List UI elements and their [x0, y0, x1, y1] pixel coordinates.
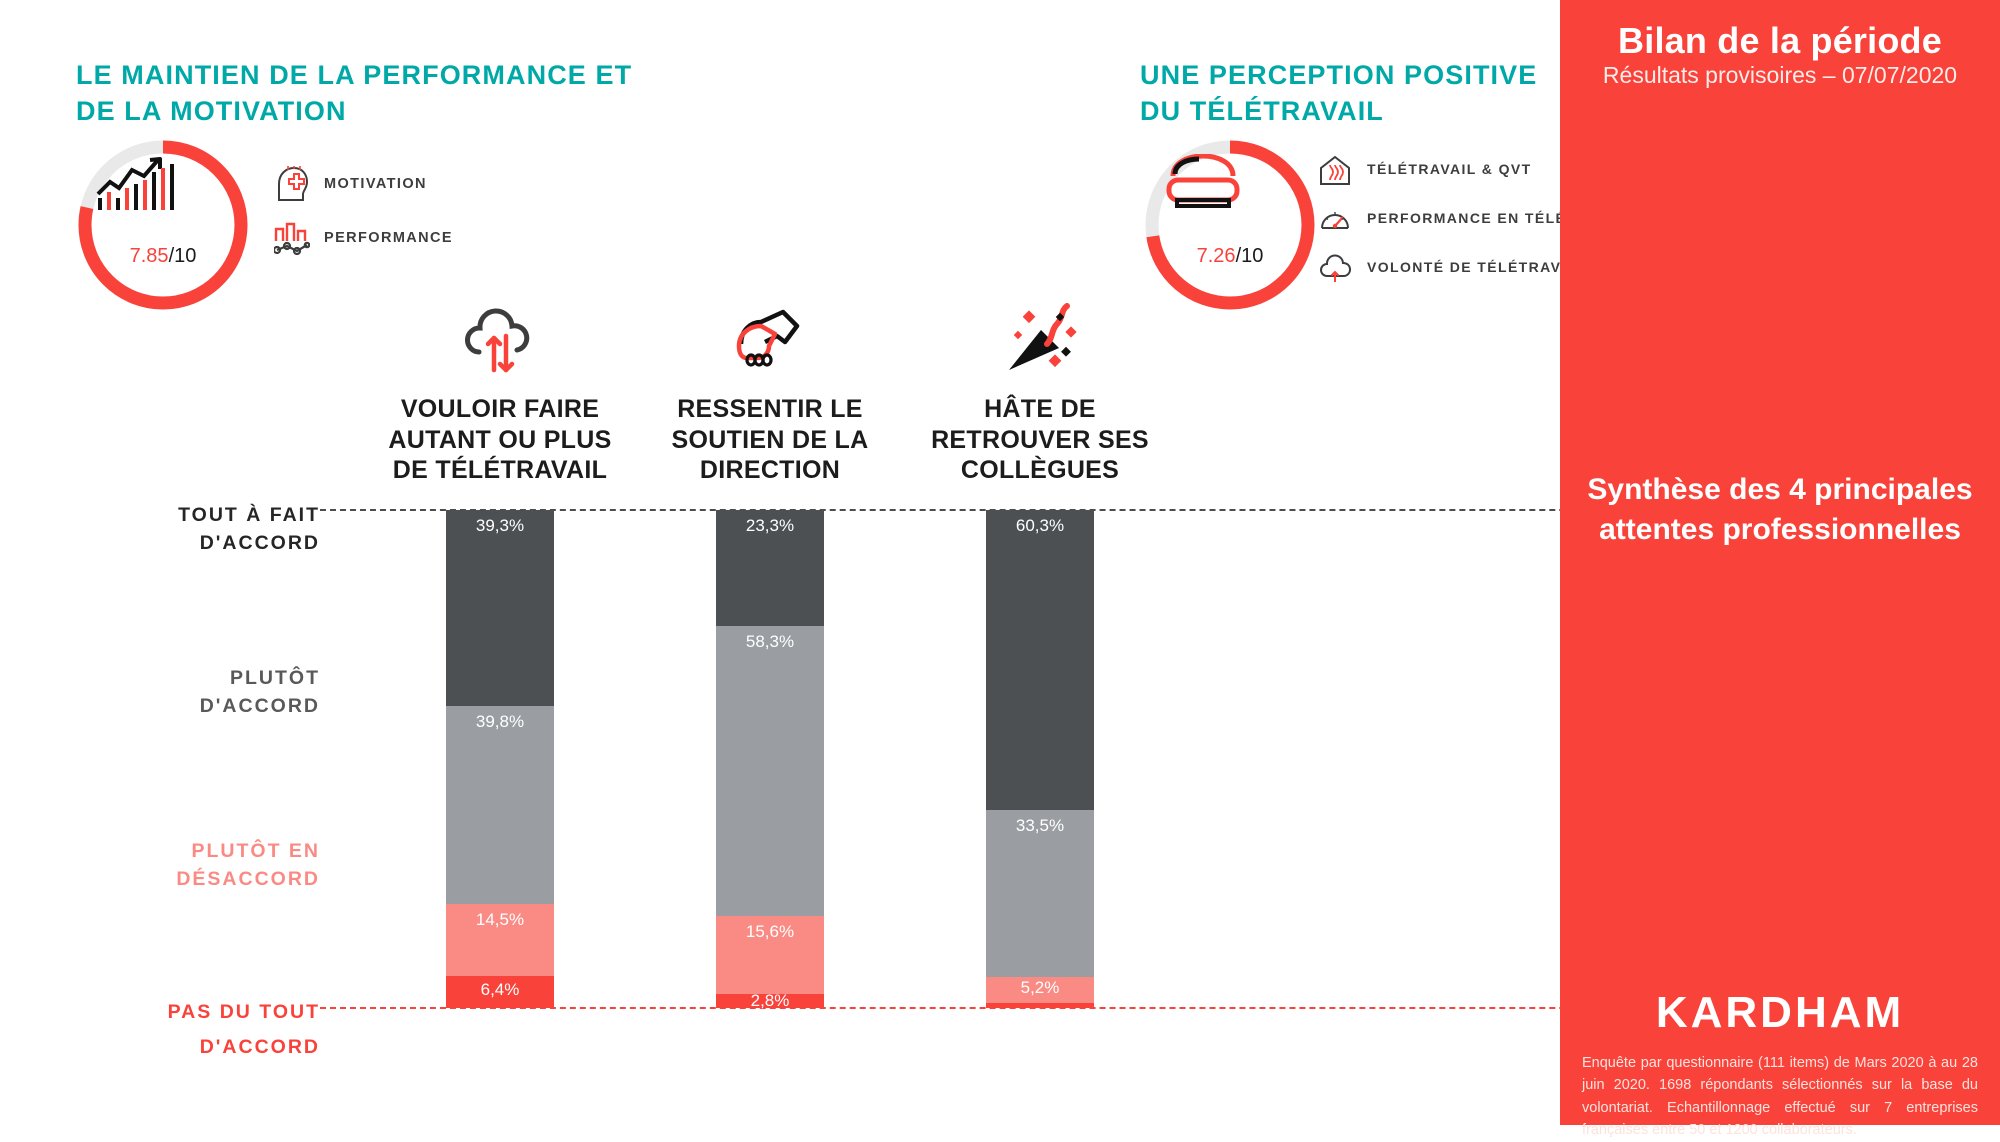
- bar-segment-tout-a-fait[interactable]: 39,3%: [446, 510, 554, 706]
- handshake-icon: [655, 290, 885, 380]
- bar-segment-pas-du-tout[interactable]: 2,8%: [716, 994, 824, 1008]
- bar-segment-plutot-desaccord[interactable]: 14,5%: [446, 904, 554, 976]
- chart-column-header-1: RESSENTIR LE SOUTIEN DE LA DIRECTION: [655, 290, 885, 486]
- stacked-bar-chart: VOULOIR FAIRE AUTANT OU PLUS DE TÉLÉTRAV…: [0, 0, 1560, 1125]
- axis-label-pas-du-tout-daccord: PAS DU TOUT D'ACCORD: [120, 995, 320, 1065]
- bar-column-0: 39,3% 39,8% 14,5% 6,4%: [446, 510, 554, 1008]
- bar-segment-pas-du-tout[interactable]: [986, 1003, 1094, 1008]
- bar-segment-plutot-desaccord[interactable]: 5,2%: [986, 977, 1094, 1003]
- panel-subtitle: Résultats provisoires – 07/07/2020: [1560, 62, 2000, 89]
- bar-segment-plutot-daccord[interactable]: 33,5%: [986, 810, 1094, 977]
- slide-root: LE MAINTIEN DE LA PERFORMANCE ET DE LA M…: [0, 0, 2000, 1125]
- bar-column-2: 60,3% 33,5% 5,2%: [986, 510, 1094, 1008]
- axis-label-plutot-en-desaccord: PLUTÔT EN DÉSACCORD: [120, 838, 320, 893]
- bar-segment-tout-a-fait[interactable]: 60,3%: [986, 510, 1094, 810]
- chart-column-header-0: VOULOIR FAIRE AUTANT OU PLUS DE TÉLÉTRAV…: [385, 290, 615, 486]
- right-red-panel: Bilan de la période Résultats provisoire…: [1560, 0, 2000, 1125]
- bar-segment-plutot-daccord[interactable]: 39,8%: [446, 706, 554, 904]
- party-popper-icon: [925, 290, 1155, 380]
- axis-label-tout-a-fait-daccord: TOUT À FAIT D'ACCORD: [120, 502, 320, 557]
- panel-footnote: Enquête par questionnaire (111 items) de…: [1582, 1052, 1978, 1142]
- chart-column-label: RESSENTIR LE SOUTIEN DE LA DIRECTION: [655, 394, 885, 486]
- bar-segment-plutot-daccord[interactable]: 58,3%: [716, 626, 824, 916]
- cloud-updown-arrows-icon: [385, 290, 615, 380]
- bar-segment-plutot-desaccord[interactable]: 15,6%: [716, 916, 824, 994]
- panel-title: Bilan de la période: [1560, 20, 2000, 62]
- bar-segment-tout-a-fait[interactable]: 23,3%: [716, 510, 824, 626]
- chart-column-header-2: HÂTE DE RETROUVER SES COLLÈGUES: [925, 290, 1155, 486]
- kardham-logo: KARDHAM: [1560, 988, 2000, 1038]
- chart-column-label: HÂTE DE RETROUVER SES COLLÈGUES: [925, 394, 1155, 486]
- panel-middle-text: Synthèse des 4 principales attentes prof…: [1560, 470, 2000, 549]
- chart-column-label: VOULOIR FAIRE AUTANT OU PLUS DE TÉLÉTRAV…: [385, 394, 615, 486]
- axis-label-plutot-daccord: PLUTÔT D'ACCORD: [120, 665, 320, 720]
- bar-column-1: 23,3% 58,3% 15,6% 2,8%: [716, 510, 824, 1008]
- bar-segment-pas-du-tout[interactable]: 6,4%: [446, 976, 554, 1008]
